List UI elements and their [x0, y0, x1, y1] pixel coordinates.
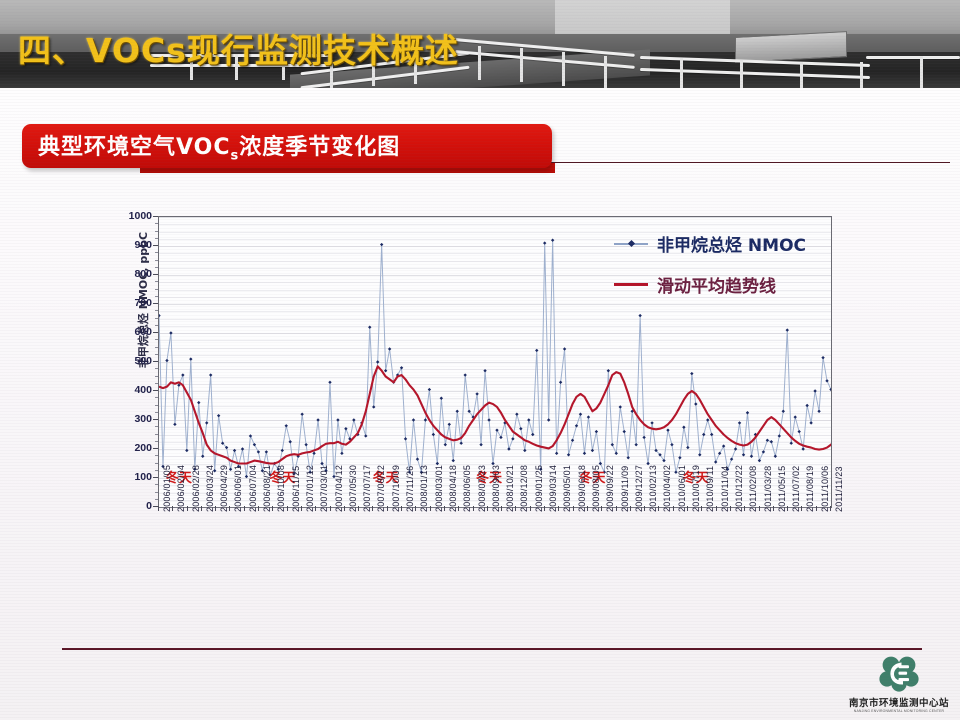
x-tick-label: 2007/08/22	[376, 465, 386, 512]
x-tick-label: 2009/01/25	[534, 465, 544, 512]
x-tick-label: 2006/08/21	[262, 465, 272, 512]
data-point	[519, 427, 522, 430]
data-point	[388, 347, 391, 350]
x-tick-mark	[716, 506, 717, 511]
data-point	[428, 388, 431, 391]
x-tick-mark	[515, 506, 516, 511]
data-point	[607, 369, 610, 372]
x-tick-label: 2011/05/15	[777, 466, 787, 512]
x-tick-label: 2008/01/13	[419, 465, 429, 512]
x-tick-label: 2010/04/02	[662, 465, 672, 512]
x-tick-mark	[387, 506, 388, 511]
data-point	[364, 434, 367, 437]
x-tick-label: 2010/07/19	[691, 465, 701, 512]
y-tick-label: 0	[108, 500, 152, 512]
x-tick-mark	[415, 506, 416, 511]
data-point	[650, 421, 653, 424]
data-point	[511, 437, 514, 440]
x-tick-label: 2010/11/04	[720, 466, 730, 512]
data-point	[547, 418, 550, 421]
x-tick-label: 2006/03/24	[205, 465, 215, 512]
data-point	[770, 440, 773, 443]
x-tick-label: 2006/02/28	[191, 465, 201, 512]
y-tick-label: 500	[108, 355, 152, 367]
x-tick-mark	[587, 506, 588, 511]
data-point	[579, 413, 582, 416]
data-point	[627, 456, 630, 459]
data-point	[690, 372, 693, 375]
data-point	[352, 418, 355, 421]
data-point	[424, 418, 427, 421]
data-point	[452, 459, 455, 462]
data-point	[384, 369, 387, 372]
data-point	[312, 452, 315, 455]
data-point	[479, 443, 482, 446]
data-point	[714, 460, 717, 463]
subtitle-main: 典型环境空气VOC	[38, 135, 231, 160]
data-point	[758, 459, 761, 462]
data-point	[265, 450, 268, 453]
x-tick-mark	[630, 506, 631, 511]
x-tick-mark	[158, 506, 159, 511]
data-point	[475, 392, 478, 395]
data-point	[555, 452, 558, 455]
data-point	[432, 433, 435, 436]
x-tick-label: 2006/07/04	[248, 465, 258, 512]
data-point	[801, 447, 804, 450]
data-point	[615, 452, 618, 455]
x-tick-label: 2007/01/12	[305, 465, 315, 512]
data-point	[181, 373, 184, 376]
x-tick-label: 2011/07/02	[791, 466, 801, 512]
x-tick-label: 2010/02/13	[648, 465, 658, 512]
data-point	[487, 418, 490, 421]
data-point	[535, 349, 538, 352]
subtitle-banner: 典型环境空气VOCs浓度季节变化图	[22, 124, 552, 168]
data-point	[344, 427, 347, 430]
x-tick-mark	[272, 506, 273, 511]
x-tick-mark	[287, 506, 288, 511]
data-point	[460, 442, 463, 445]
subtitle-subscript: s	[231, 148, 240, 163]
data-point	[463, 373, 466, 376]
data-point	[575, 424, 578, 427]
data-point	[611, 443, 614, 446]
data-point	[642, 436, 645, 439]
x-tick-label: 2010/09/11	[705, 466, 715, 512]
x-tick-mark	[430, 506, 431, 511]
chart-legend: 非甲烷总烃 NMOC 滑动平均趋势线	[614, 231, 806, 313]
data-point	[372, 405, 375, 408]
x-tick-mark	[573, 506, 574, 511]
data-point	[670, 443, 673, 446]
x-tick-mark	[315, 506, 316, 511]
data-point	[217, 414, 220, 417]
x-tick-label: 2011/08/19	[805, 466, 815, 512]
data-point	[698, 453, 701, 456]
x-tick-mark	[487, 506, 488, 511]
data-point	[185, 449, 188, 452]
data-point	[531, 433, 534, 436]
data-point	[209, 373, 212, 376]
x-tick-label: 2011/11/23	[834, 466, 844, 512]
data-point	[289, 440, 292, 443]
x-tick-mark	[501, 506, 502, 511]
data-point	[817, 410, 820, 413]
legend-label-trend: 滑动平均趋势线	[657, 272, 776, 297]
x-tick-label: 2006/11/25	[291, 466, 301, 512]
x-tick-mark	[730, 506, 731, 511]
x-tick-label: 2009/05/01	[562, 465, 572, 512]
x-tick-label: 2007/05/30	[348, 465, 358, 512]
data-point	[336, 418, 339, 421]
data-point	[197, 401, 200, 404]
data-point	[205, 421, 208, 424]
data-point	[730, 457, 733, 460]
y-tick-label: 700	[108, 297, 152, 309]
x-tick-mark	[773, 506, 774, 511]
data-point	[678, 456, 681, 459]
data-point	[666, 428, 669, 431]
data-point	[786, 328, 789, 331]
x-tick-label: 2007/07/17	[362, 465, 372, 512]
y-tick-label: 600	[108, 326, 152, 338]
data-point	[173, 423, 176, 426]
x-tick-mark	[330, 506, 331, 511]
x-tick-mark	[172, 506, 173, 511]
data-point	[797, 430, 800, 433]
data-point	[790, 442, 793, 445]
x-tick-mark	[301, 506, 302, 511]
data-point	[766, 439, 769, 442]
x-tick-label: 2008/12/08	[519, 465, 529, 512]
data-point	[710, 433, 713, 436]
legend-item-nmoc: 非甲烷总烃 NMOC	[614, 231, 806, 256]
x-tick-mark	[787, 506, 788, 511]
data-point	[448, 423, 451, 426]
footer-divider	[62, 648, 922, 650]
data-point	[551, 239, 554, 242]
data-point	[694, 402, 697, 405]
y-tick-label: 100	[108, 471, 152, 483]
x-tick-label: 2008/04/18	[448, 465, 458, 512]
x-tick-label: 2011/02/08	[748, 466, 758, 512]
data-point	[165, 359, 168, 362]
x-tick-label: 2006/01/05	[162, 465, 172, 512]
data-point	[456, 410, 459, 413]
x-tick-label: 2007/10/09	[391, 465, 401, 512]
data-point	[340, 452, 343, 455]
x-tick-label: 2008/03/01	[434, 465, 444, 512]
x-tick-label: 2008/10/21	[505, 465, 515, 512]
x-tick-mark	[401, 506, 402, 511]
data-point	[304, 443, 307, 446]
footer-org-name-cn: 南京市环境监测中心站	[846, 695, 952, 709]
slide-canvas: 四、VOCs现行监测技术概述 典型环境空气VOCs浓度季节变化图 非甲烷总烃 N…	[0, 0, 960, 720]
y-tick-label: 900	[108, 239, 152, 251]
x-tick-mark	[473, 506, 474, 511]
x-tick-mark	[801, 506, 802, 511]
data-point	[623, 430, 626, 433]
data-point	[734, 447, 737, 450]
x-tick-label: 2009/12/27	[634, 465, 644, 512]
x-tick-label: 2007/11/26	[405, 466, 415, 512]
data-point	[233, 449, 236, 452]
x-tick-label: 2006/10/08	[276, 465, 286, 512]
x-tick-label: 2009/06/18	[577, 465, 587, 512]
data-point	[376, 360, 379, 363]
data-point	[285, 424, 288, 427]
legend-marker-icon	[614, 237, 648, 251]
chart-container: 非甲烷总烃 NMOC, ppbC 01002003004005006007008…	[92, 200, 852, 595]
data-point	[686, 446, 689, 449]
x-tick-mark	[658, 506, 659, 511]
x-tick-mark	[616, 506, 617, 511]
data-point	[782, 410, 785, 413]
data-point	[702, 433, 705, 436]
footer-logo: 南京市环境监测中心站 NANJING ENVIRONMENTAL MONITOR…	[846, 654, 952, 716]
x-tick-label: 2009/08/05	[591, 465, 601, 512]
x-tick-label: 2006/06/01	[233, 465, 243, 512]
y-tick-label: 400	[108, 384, 152, 396]
data-point	[543, 241, 546, 244]
x-tick-label: 2009/03/14	[548, 465, 558, 512]
x-tick-mark	[201, 506, 202, 511]
data-point	[825, 379, 828, 382]
x-tick-label: 2011/10/06	[820, 466, 830, 512]
subtitle-text: 典型环境空气VOCs浓度季节变化图	[22, 129, 400, 163]
data-point	[813, 389, 816, 392]
data-point	[523, 449, 526, 452]
x-tick-mark	[601, 506, 602, 511]
x-tick-mark	[458, 506, 459, 511]
x-tick-label: 2009/09/22	[605, 465, 615, 512]
data-point	[380, 243, 383, 246]
page-title: 四、VOCs现行监测技术概述	[18, 24, 459, 72]
data-point	[774, 455, 777, 458]
data-point	[638, 314, 641, 317]
data-point	[591, 449, 594, 452]
x-tick-mark	[644, 506, 645, 511]
x-tick-label: 2010/06/01	[677, 465, 687, 512]
y-tick-label: 200	[108, 442, 152, 454]
x-tick-mark	[444, 506, 445, 511]
x-tick-mark	[759, 506, 760, 511]
x-tick-mark	[358, 506, 359, 511]
x-tick-label: 2009/11/09	[620, 466, 630, 512]
data-point	[527, 418, 530, 421]
data-point	[515, 413, 518, 416]
data-point	[483, 369, 486, 372]
x-tick-label: 2006/02/04	[176, 465, 186, 512]
data-point	[595, 430, 598, 433]
data-point	[587, 415, 590, 418]
x-tick-label: 2008/07/23	[477, 465, 487, 512]
x-tick-mark	[701, 506, 702, 511]
data-point	[169, 331, 172, 334]
x-tick-mark	[558, 506, 559, 511]
x-tick-mark	[229, 506, 230, 511]
x-tick-label: 2007/03/01	[319, 465, 329, 512]
data-point	[794, 415, 797, 418]
data-point	[583, 452, 586, 455]
x-tick-mark	[344, 506, 345, 511]
y-tick-label: 300	[108, 413, 152, 425]
data-point	[300, 413, 303, 416]
data-point	[189, 357, 192, 360]
x-tick-mark	[744, 506, 745, 511]
page-title-wrap: 四、VOCs现行监测技术概述	[18, 24, 459, 72]
legend-line-icon	[614, 278, 648, 292]
x-tick-mark	[544, 506, 545, 511]
x-tick-label: 2010/12/22	[734, 465, 744, 512]
data-point	[706, 418, 709, 421]
subtitle-row: 典型环境空气VOCs浓度季节变化图	[0, 124, 960, 176]
data-point	[778, 434, 781, 437]
y-tick-label: 1000	[108, 210, 152, 222]
data-point	[416, 457, 419, 460]
y-tick-label: 800	[108, 268, 152, 280]
legend-item-trend: 滑动平均趋势线	[614, 272, 806, 297]
data-point	[281, 449, 284, 452]
data-point	[444, 443, 447, 446]
data-point	[762, 450, 765, 453]
clover-e-logo-icon	[879, 654, 919, 694]
x-tick-mark	[244, 506, 245, 511]
data-point	[682, 426, 685, 429]
x-tick-label: 2011/03/28	[763, 466, 773, 512]
data-point	[328, 381, 331, 384]
x-tick-label: 2008/09/03	[491, 465, 501, 512]
data-point	[229, 468, 232, 471]
data-point	[571, 439, 574, 442]
data-point	[738, 421, 741, 424]
subtitle-tail: 浓度季节变化图	[239, 135, 400, 160]
legend-label-nmoc: 非甲烷总烃 NMOC	[657, 231, 806, 256]
data-point	[821, 356, 824, 359]
x-tick-mark	[530, 506, 531, 511]
x-tick-mark	[372, 506, 373, 511]
x-tick-label: 2008/06/05	[462, 465, 472, 512]
x-tick-mark	[830, 506, 831, 511]
data-point	[440, 397, 443, 400]
x-tick-mark	[258, 506, 259, 511]
data-point	[201, 455, 204, 458]
x-tick-mark	[816, 506, 817, 511]
data-point	[316, 418, 319, 421]
data-point	[507, 447, 510, 450]
data-point	[249, 434, 252, 437]
header-photo-band: 四、VOCs现行监测技术概述	[0, 0, 960, 88]
data-point	[368, 326, 371, 329]
data-point	[404, 437, 407, 440]
data-point	[634, 443, 637, 446]
data-point	[563, 347, 566, 350]
data-point	[742, 453, 745, 456]
x-tick-mark	[687, 506, 688, 511]
x-tick-label: 2007/04/12	[334, 465, 344, 512]
data-point	[750, 455, 753, 458]
footer-org-name-en: NANJING ENVIRONMENTAL MONITORING CENTER	[849, 709, 950, 713]
data-point	[805, 404, 808, 407]
data-point	[559, 381, 562, 384]
data-point	[412, 418, 415, 421]
data-point	[241, 447, 244, 450]
x-tick-mark	[187, 506, 188, 511]
data-point	[159, 314, 161, 317]
x-tick-mark	[215, 506, 216, 511]
data-point	[619, 405, 622, 408]
x-tick-label: 2006/04/29	[219, 465, 229, 512]
data-point	[809, 421, 812, 424]
x-tick-mark	[673, 506, 674, 511]
data-point	[746, 411, 749, 414]
data-point	[567, 453, 570, 456]
